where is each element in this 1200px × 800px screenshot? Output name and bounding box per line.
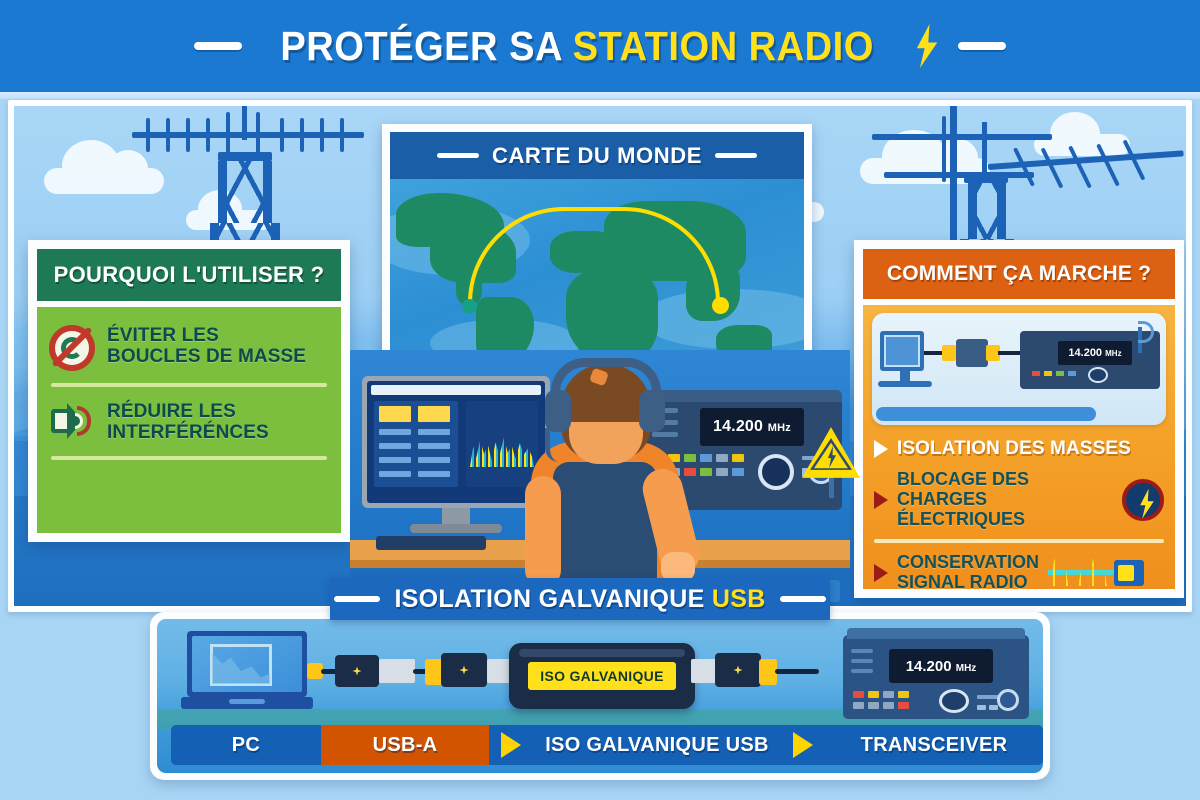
why-item-line1: RÉDUIRE LES	[107, 401, 269, 422]
no-ground-loop-icon	[49, 325, 95, 371]
why-item-line2: BOUCLES DE MASSE	[107, 346, 306, 367]
banner-title: ISOLATION GALVANIQUE USB	[394, 585, 765, 614]
banner-dash-right	[780, 596, 826, 602]
how-panel-header: COMMENT ÇA MARCHE ?	[863, 249, 1175, 299]
arrow-right-red-icon	[874, 564, 888, 582]
how-item-line1: ISOLATION DES MASSES	[897, 438, 1131, 460]
header-dash-left	[194, 42, 242, 50]
galvanic-isolator-device: ISO GALVANIQUE	[509, 643, 695, 709]
iso-box-label: ISO GALVANIQUE	[528, 662, 675, 690]
divider	[874, 539, 1164, 543]
spectrum-monitor-icon	[362, 376, 550, 508]
radio-display: 14.200 MHz	[700, 408, 804, 446]
signal-chain-panel: ISO GALVANIQUE 14.200 MHz	[150, 612, 1050, 780]
banner-title-highlight: USB	[712, 585, 766, 613]
why-item-line1: ÉVITER LES	[107, 325, 306, 346]
arrow-right-red-icon	[874, 491, 888, 509]
why-panel-title: POURQUOI L'UTILISER ?	[54, 262, 325, 288]
title-part1: PROTÉGER SA	[280, 23, 572, 69]
transceiver-frequency: 14.200	[906, 658, 952, 675]
usb-connector-icon	[715, 653, 761, 687]
how-item-text: CONSERVATION SIGNAL RADIO	[897, 553, 1039, 593]
how-it-works-panel: COMMENT ÇA MARCHE ?	[854, 240, 1184, 598]
how-panel-title: COMMENT ÇA MARCHE ?	[887, 262, 1151, 286]
how-photo-frequency: 14.200	[1068, 347, 1102, 359]
usb-connector-icon	[441, 653, 487, 687]
how-item-line2: SIGNAL RADIO	[897, 573, 1039, 593]
world-map-panel: CARTE DU MONDE	[382, 124, 812, 374]
how-photo-unit: MHz	[1105, 349, 1121, 358]
why-panel-header: POURQUOI L'UTILISER ?	[37, 249, 341, 301]
how-item-text: BLOCAGE DES CHARGES ÉLECTRIQUES	[897, 470, 1113, 529]
why-item: ÉVITER LES BOUCLES DE MASSE	[49, 321, 329, 379]
usb-plug-metal-icon	[379, 659, 415, 683]
main-scene: CARTE DU MONDE	[14, 106, 1186, 606]
radio-frequency: 14.200	[713, 418, 763, 435]
how-panel-body: 14.200 MHz ISOLATION DES MASSES	[863, 305, 1175, 589]
why-item: RÉDUIRE LES INTERFÉRÉNCES	[49, 397, 329, 452]
arrow-right-yellow-icon	[793, 732, 813, 758]
chain-label-pc: PC	[171, 725, 321, 765]
transceiver-display: 14.200 MHz	[889, 649, 993, 683]
world-map-graphic	[390, 179, 804, 366]
how-item-line2: ÉLECTRIQUES	[897, 510, 1113, 530]
map-point-destination	[712, 297, 729, 314]
main-scene-frame: CARTE DU MONDE	[8, 100, 1192, 612]
why-use-panel: POURQUOI L'UTILISER ? ÉVITER LES BOUCLES…	[28, 240, 350, 542]
usb-plug-metal-icon	[691, 659, 717, 683]
transceiver-unit: MHz	[956, 663, 977, 674]
transceiver-device: 14.200 MHz	[843, 635, 1029, 719]
map-dash-left	[437, 153, 479, 158]
cable-segment	[775, 669, 819, 674]
radio-unit: MHz	[768, 422, 791, 434]
infographic-root: PROTÉGER SA STATION RADIO	[0, 0, 1200, 800]
chain-label-transceiver: TRANSCEIVER	[825, 725, 1043, 765]
arrow-right-yellow-icon	[501, 732, 521, 758]
header-shadow	[0, 92, 1200, 99]
high-voltage-warning-icon	[802, 426, 860, 480]
how-item: BLOCAGE DES CHARGES ÉLECTRIQUES	[872, 465, 1166, 534]
chain-label-iso: ISO GALVANIQUE USB	[533, 725, 781, 765]
map-dash-right	[715, 153, 757, 158]
header-dash-right	[958, 42, 1006, 50]
map-panel-title: CARTE DU MONDE	[492, 143, 702, 169]
why-item-text: ÉVITER LES BOUCLES DE MASSE	[107, 325, 306, 368]
why-item-line2: INTERFÉRÉNCES	[107, 422, 269, 443]
divider	[51, 456, 327, 460]
operator-desk-scene: 14.200 MHz	[350, 350, 850, 606]
usb-connector-icon	[335, 655, 379, 687]
divider	[51, 383, 327, 387]
speaker-interference-icon	[49, 401, 95, 443]
how-item-line1: BLOCAGE DES CHARGES	[897, 470, 1113, 510]
chain-label-usb-a: USB-A	[321, 725, 489, 765]
chain-label-bar: PC USB-A ISO GALVANIQUE USB TRANSCEIVER	[171, 725, 1043, 765]
how-item: ISOLATION DES MASSES	[872, 433, 1166, 465]
title-highlight: STATION RADIO	[573, 23, 874, 69]
why-panel-body: ÉVITER LES BOUCLES DE MASSE RÉDUIRE LES …	[37, 307, 341, 533]
radio-operator-icon	[525, 356, 685, 606]
map-point-origin	[462, 299, 477, 314]
map-panel-header: CARTE DU MONDE	[390, 132, 804, 179]
laptop-icon	[181, 631, 313, 717]
radio-wave-plug-icon	[1048, 556, 1144, 590]
header-banner: PROTÉGER SA STATION RADIO	[0, 0, 1200, 92]
electric-bolt-badge-icon	[1122, 479, 1164, 521]
section-banner: ISOLATION GALVANIQUE USB	[330, 578, 830, 620]
arrow-right-white-icon	[874, 440, 888, 458]
how-item: CONSERVATION SIGNAL RADIO	[872, 548, 1166, 598]
why-item-text: RÉDUIRE LES INTERFÉRÉNCES	[107, 401, 269, 444]
how-item-line1: CONSERVATION	[897, 553, 1039, 573]
page-title: PROTÉGER SA STATION RADIO	[280, 23, 873, 70]
how-panel-illustration: 14.200 MHz	[872, 313, 1166, 425]
banner-dash-left	[334, 596, 380, 602]
lightning-bolt-icon	[912, 24, 942, 68]
banner-title-part1: ISOLATION GALVANIQUE	[394, 585, 711, 613]
